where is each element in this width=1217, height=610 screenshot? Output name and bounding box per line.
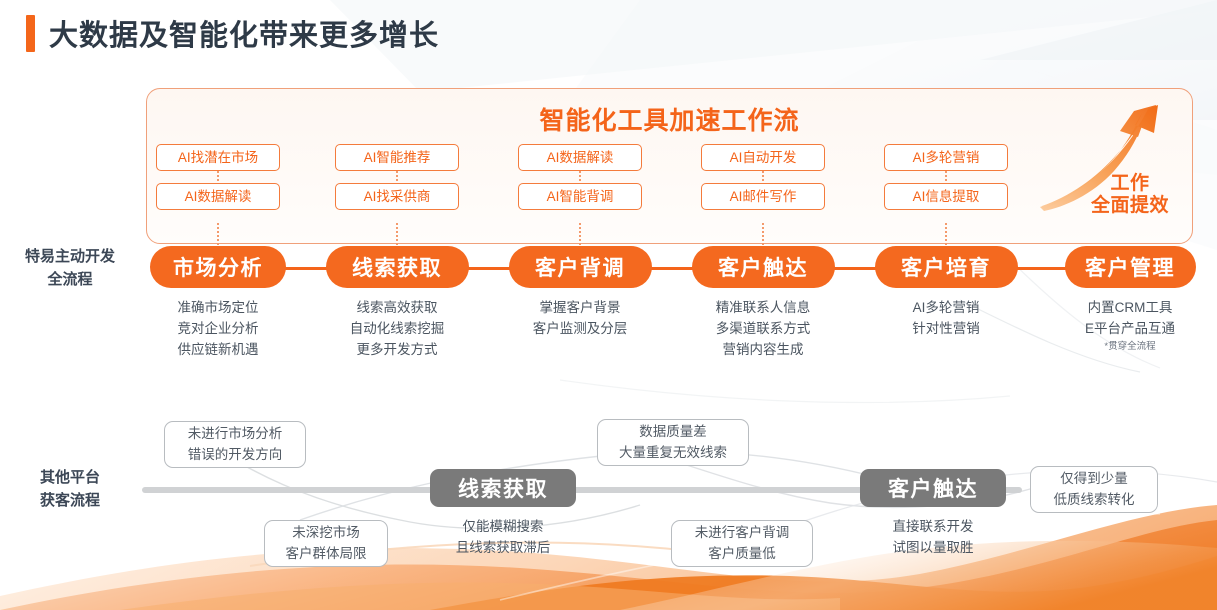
- flow-desc-线索获取: 线索高效获取自动化线索挖掘更多开发方式: [302, 297, 492, 361]
- title-accent-bar: [26, 15, 35, 52]
- slide-canvas: 大数据及智能化带来更多增长 智能化工具加速工作流 工作 全面提效: [0, 0, 1217, 610]
- ai-tag-box[interactable]: AI邮件写作: [701, 183, 825, 210]
- ai-to-pill-dotted-connector: [945, 223, 947, 247]
- flow-desc-line: 多渠道联系方式: [668, 318, 858, 339]
- issue-box-line: 未进行市场分析: [188, 424, 283, 444]
- flow-desc-line: 精准联系人信息: [668, 297, 858, 318]
- ai-tag-column-3: AI数据解读AI智能背调: [518, 144, 642, 210]
- issue-box-3[interactable]: 数据质量差大量重复无效线索: [597, 419, 749, 466]
- flow-desc-line: E平台产品互通: [1035, 318, 1217, 339]
- ai-tag-dotted-connector: [762, 171, 764, 183]
- flow-desc-市场分析: 准确市场定位竞对企业分析供应链新机遇: [123, 297, 313, 361]
- ai-to-pill-dotted-connector: [762, 223, 764, 247]
- ai-tag-column-2: AI智能推荐AI找采供商: [335, 144, 459, 210]
- ai-to-pill-dotted-connector: [396, 223, 398, 247]
- side-label-top-line2: 全流程: [0, 269, 140, 292]
- ai-to-pill-dotted-connector: [579, 223, 581, 247]
- flow-desc-line: 客户监测及分层: [485, 318, 675, 339]
- efficiency-callout: 工作 全面提效: [1084, 173, 1176, 218]
- flow-desc-line: 线索高效获取: [302, 297, 492, 318]
- ai-tag-dotted-connector: [579, 171, 581, 183]
- flow-pill-市场分析[interactable]: 市场分析: [150, 246, 286, 288]
- side-label-top: 特易主动开发 全流程: [0, 246, 140, 291]
- issue-box-line: 客户质量低: [708, 544, 776, 564]
- other-platform-desc-line: 仅能模糊搜索: [408, 517, 598, 538]
- flow-pill-客户培育[interactable]: 客户培育: [875, 246, 1018, 288]
- ai-tag-box[interactable]: AI找采供商: [335, 183, 459, 210]
- flow-pill-客户背调[interactable]: 客户背调: [509, 246, 652, 288]
- flow-desc-line: 竞对企业分析: [123, 318, 313, 339]
- ai-to-pill-dotted-connector: [217, 223, 219, 247]
- flow-desc-客户背调: 掌握客户背景客户监测及分层: [485, 297, 675, 339]
- issue-box-5[interactable]: 仅得到少量低质线索转化: [1030, 466, 1158, 513]
- side-label-bottom-line1: 其他平台: [0, 467, 140, 490]
- other-platform-desc-客户触达: 直接联系开发试图以量取胜: [838, 517, 1028, 559]
- flow-desc-line: 供应链新机遇: [123, 339, 313, 360]
- ai-tag-dotted-connector: [945, 171, 947, 183]
- issue-box-line: 客户群体局限: [286, 544, 367, 564]
- issue-box-4[interactable]: 未进行客户背调客户质量低: [671, 520, 813, 567]
- ai-tag-box[interactable]: AI找潜在市场: [156, 144, 280, 171]
- other-platform-desc-line: 直接联系开发: [838, 517, 1028, 538]
- side-label-top-line1: 特易主动开发: [0, 246, 140, 269]
- flow-desc-客户培育: AI多轮营销针对性营销: [851, 297, 1041, 339]
- issue-box-line: 错误的开发方向: [188, 445, 283, 465]
- flow-desc-line: 针对性营销: [851, 318, 1041, 339]
- efficiency-line-1: 工作: [1084, 173, 1176, 195]
- ai-tag-column-5: AI多轮营销AI信息提取: [884, 144, 1008, 210]
- other-platform-pill-线索获取[interactable]: 线索获取: [430, 469, 576, 507]
- ai-tag-column-1: AI找潜在市场AI数据解读: [156, 144, 280, 210]
- other-platform-desc-line: 试图以量取胜: [838, 538, 1028, 559]
- flow-desc-note: *贯穿全流程: [1035, 340, 1217, 355]
- issue-box-line: 仅得到少量: [1060, 469, 1128, 489]
- flow-desc-line: AI多轮营销: [851, 297, 1041, 318]
- issue-box-1[interactable]: 未进行市场分析错误的开发方向: [164, 421, 306, 468]
- ai-tag-box[interactable]: AI数据解读: [518, 144, 642, 171]
- ai-tag-box[interactable]: AI信息提取: [884, 183, 1008, 210]
- issue-box-2[interactable]: 未深挖市场客户群体局限: [264, 520, 388, 567]
- ai-tag-box[interactable]: AI智能推荐: [335, 144, 459, 171]
- flow-desc-line: 自动化线索挖掘: [302, 318, 492, 339]
- flow-pill-客户触达[interactable]: 客户触达: [692, 246, 835, 288]
- flow-connector-line: [168, 267, 1183, 270]
- flow-desc-line: 营销内容生成: [668, 339, 858, 360]
- other-platform-desc-line: 且线索获取滞后: [408, 538, 598, 559]
- ai-tag-box[interactable]: AI自动开发: [701, 144, 825, 171]
- ai-tag-dotted-connector: [217, 171, 219, 183]
- flow-desc-客户管理: 内置CRM工具E平台产品互通*贯穿全流程: [1035, 297, 1217, 355]
- page-title: 大数据及智能化带来更多增长: [26, 12, 439, 54]
- ai-tools-panel: 智能化工具加速工作流 工作 全面提效: [146, 88, 1193, 244]
- issue-box-line: 未进行客户背调: [695, 523, 790, 543]
- flow-desc-line: 掌握客户背景: [485, 297, 675, 318]
- flow-desc-line: 内置CRM工具: [1035, 297, 1217, 318]
- ai-tag-box[interactable]: AI智能背调: [518, 183, 642, 210]
- flow-desc-line: 更多开发方式: [302, 339, 492, 360]
- issue-box-line: 未深挖市场: [292, 523, 360, 543]
- other-platform-pill-客户触达[interactable]: 客户触达: [860, 469, 1006, 507]
- ai-tag-box[interactable]: AI多轮营销: [884, 144, 1008, 171]
- other-platform-desc-线索获取: 仅能模糊搜索且线索获取滞后: [408, 517, 598, 559]
- flow-pill-客户管理[interactable]: 客户管理: [1065, 246, 1196, 288]
- side-label-bottom-line2: 获客流程: [0, 490, 140, 513]
- issue-box-line: 数据质量差: [639, 422, 707, 442]
- ai-tag-dotted-connector: [396, 171, 398, 183]
- issue-box-line: 低质线索转化: [1054, 490, 1135, 510]
- issue-box-line: 大量重复无效线索: [619, 443, 727, 463]
- title-text: 大数据及智能化带来更多增长: [49, 12, 439, 54]
- ai-tag-column-4: AI自动开发AI邮件写作: [701, 144, 825, 210]
- ai-tag-box[interactable]: AI数据解读: [156, 183, 280, 210]
- side-label-bottom: 其他平台 获客流程: [0, 467, 140, 512]
- flow-desc-line: 准确市场定位: [123, 297, 313, 318]
- flow-desc-客户触达: 精准联系人信息多渠道联系方式营销内容生成: [668, 297, 858, 361]
- flow-pill-线索获取[interactable]: 线索获取: [326, 246, 469, 288]
- efficiency-line-2: 全面提效: [1084, 195, 1176, 217]
